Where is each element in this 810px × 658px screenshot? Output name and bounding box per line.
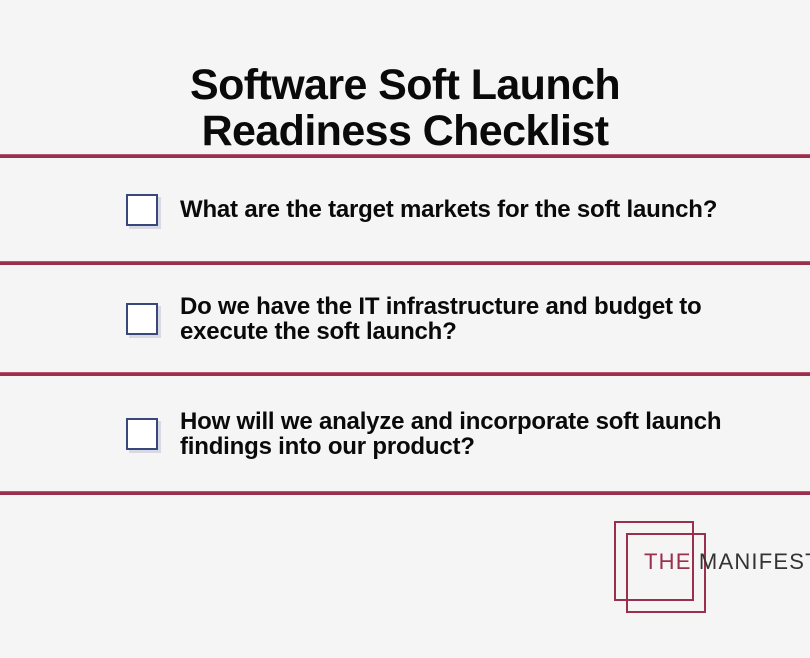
list-item-label: How will we analyze and incorporate soft… xyxy=(180,409,760,459)
checkbox-icon[interactable] xyxy=(126,418,158,450)
checklist: What are the target markets for the soft… xyxy=(0,158,810,495)
checklist-infographic: Software Soft Launch Readiness Checklist… xyxy=(0,0,810,658)
title-block: Software Soft Launch Readiness Checklist xyxy=(0,0,810,154)
list-item[interactable]: Do we have the IT infrastructure and bud… xyxy=(0,265,810,372)
page-title: Software Soft Launch Readiness Checklist xyxy=(40,62,770,154)
list-item[interactable]: What are the target markets for the soft… xyxy=(0,158,810,261)
logo-wordmark: THE MANIFEST xyxy=(644,551,810,573)
the-manifest-logo: THE MANIFEST xyxy=(602,513,798,611)
list-item-label: Do we have the IT infrastructure and bud… xyxy=(180,294,760,344)
checkbox-icon[interactable] xyxy=(126,194,158,226)
logo-word-the: THE xyxy=(644,549,692,574)
list-item-label: What are the target markets for the soft… xyxy=(180,197,717,222)
logo-word-manifest: MANIFEST xyxy=(692,549,810,574)
checkbox-icon[interactable] xyxy=(126,303,158,335)
list-item[interactable]: How will we analyze and incorporate soft… xyxy=(0,376,810,491)
footer: THE MANIFEST xyxy=(0,495,810,626)
